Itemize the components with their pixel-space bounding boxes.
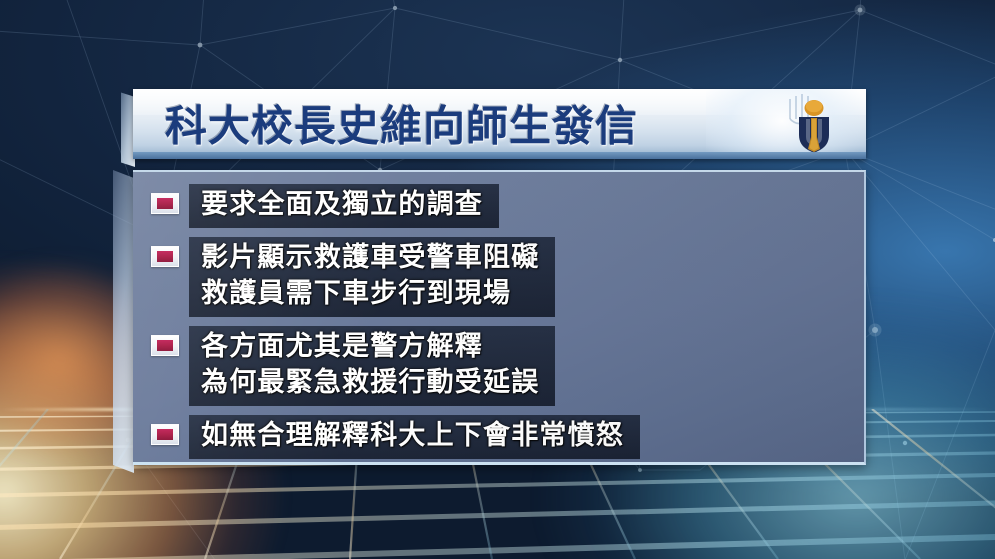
content-panel: 要求全面及獨立的調查影片顯示救護車受警車阻礙救護員需下車步行到現場各方面尤其是警… xyxy=(133,170,866,465)
bullet-square-fill xyxy=(157,429,173,440)
broadcast-lower-third-graphic: 科大校長史維向師生發信 xyxy=(0,0,995,559)
bullet-text-line: 影片顯示救護車受警車阻礙 xyxy=(201,240,539,276)
bullet-row: 影片顯示救護車受警車阻礙救護員需下車步行到現場 xyxy=(133,237,864,317)
bullet-text-line: 如無合理解釋科大上下會非常憤怒 xyxy=(201,418,624,454)
bullet-text-line: 救護員需下車步行到現場 xyxy=(201,276,539,312)
bullet-row: 要求全面及獨立的調查 xyxy=(133,184,864,228)
bullet-row: 各方面尤其是警方解釋為何最緊急救援行動受延誤 xyxy=(133,326,864,406)
bullet-list: 要求全面及獨立的調查影片顯示救護車受警車阻礙救護員需下車步行到現場各方面尤其是警… xyxy=(133,184,864,465)
bullet-square-icon xyxy=(151,335,179,356)
bullet-square-icon xyxy=(151,193,179,214)
page-title: 科大校長史維向師生發信 xyxy=(165,92,638,153)
bullet-square-fill xyxy=(157,198,173,209)
bullet-text: 如無合理解釋科大上下會非常憤怒 xyxy=(189,415,640,459)
bullet-square-fill xyxy=(157,251,173,262)
bullet-square-icon xyxy=(151,424,179,445)
hkust-logo xyxy=(782,93,844,155)
bullet-text: 要求全面及獨立的調查 xyxy=(189,184,499,228)
bullet-text: 各方面尤其是警方解釋為何最緊急救援行動受延誤 xyxy=(189,326,555,406)
bullet-text-line: 為何最緊急救援行動受延誤 xyxy=(201,365,539,401)
bullet-square-icon xyxy=(151,246,179,267)
bullet-text-line: 各方面尤其是警方解釋 xyxy=(201,329,539,365)
title-bar: 科大校長史維向師生發信 xyxy=(133,89,866,159)
bullet-text-line: 要求全面及獨立的調查 xyxy=(201,187,483,223)
bullet-text: 影片顯示救護車受警車阻礙救護員需下車步行到現場 xyxy=(189,237,555,317)
bullet-square-fill xyxy=(157,340,173,351)
title-bar-bottom-band xyxy=(133,152,866,159)
content-panel-left-bevel xyxy=(113,170,134,473)
bullet-row: 如無合理解釋科大上下會非常憤怒 xyxy=(133,415,864,459)
